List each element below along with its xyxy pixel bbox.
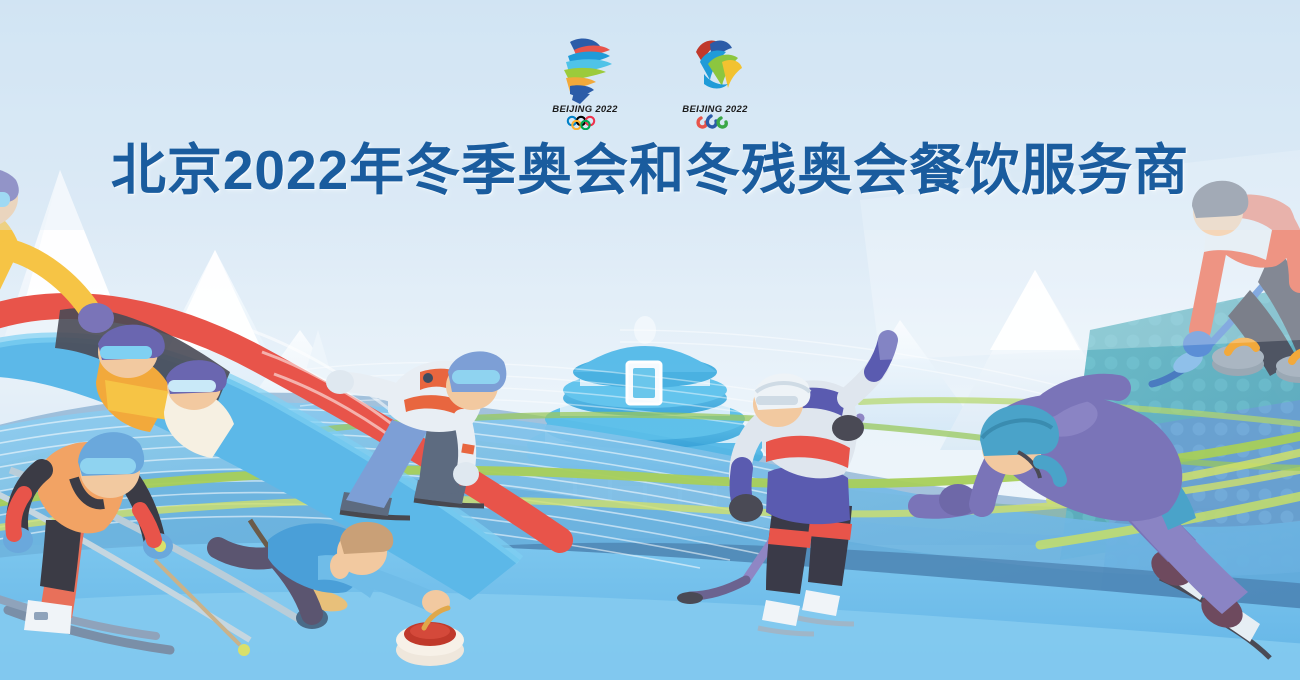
curling-stone-right-1 (1212, 342, 1264, 376)
svg-text:BEIJING 2022: BEIJING 2022 (682, 104, 748, 115)
olympic-wordmark: BEIJING 2022 (552, 104, 618, 115)
athlete-speed-skater-purple (920, 387, 1270, 658)
beijing-2022-banner: BEIJING 2022 (0, 0, 1300, 680)
curling-stone-right-2 (1276, 351, 1300, 383)
paralympic-agitos (698, 116, 726, 127)
athlete-alpine-skier (0, 432, 250, 656)
athlete-curler-sweeper (1152, 181, 1300, 384)
page-title: 北京2022年冬季奥会和冬残奥会餐饮服务商 (111, 140, 1189, 201)
athlete-ice-hockey-player (677, 340, 888, 634)
paralympic-emblem: BEIJING 2022 (670, 30, 760, 130)
athlete-speed-skater-white (326, 351, 506, 518)
emblem-row: BEIJING 2022 (0, 30, 1300, 130)
green-slope (0, 428, 1300, 560)
athlete-bobsleigh-team (0, 168, 560, 640)
paralympic-wordmark: BEIJING 2022 (682, 104, 748, 115)
temple-of-heaven (495, 316, 795, 538)
paralympic-emblem-symbol (696, 40, 742, 88)
mountain-range (0, 170, 1300, 470)
green-ribbon (0, 400, 1300, 545)
ice-wave-main (0, 403, 1300, 680)
athlete-curler-thrower (218, 520, 464, 666)
bobsleigh-rider-1 (96, 325, 172, 432)
curling-stone (396, 608, 464, 666)
olympic-emblem-symbol (564, 39, 612, 104)
olympic-emblem: BEIJING 2022 (540, 30, 630, 130)
bottom-wave (0, 543, 1300, 680)
bobsleigh-rider-2 (164, 360, 234, 458)
olympic-rings (568, 117, 594, 129)
speed-lines (0, 409, 800, 568)
svg-text:BEIJING 2022: BEIJING 2022 (552, 104, 618, 115)
deep-blue-wave (380, 543, 1300, 680)
title-container: 北京2022年冬季奥会和冬残奥会餐饮服务商 (0, 140, 1300, 201)
